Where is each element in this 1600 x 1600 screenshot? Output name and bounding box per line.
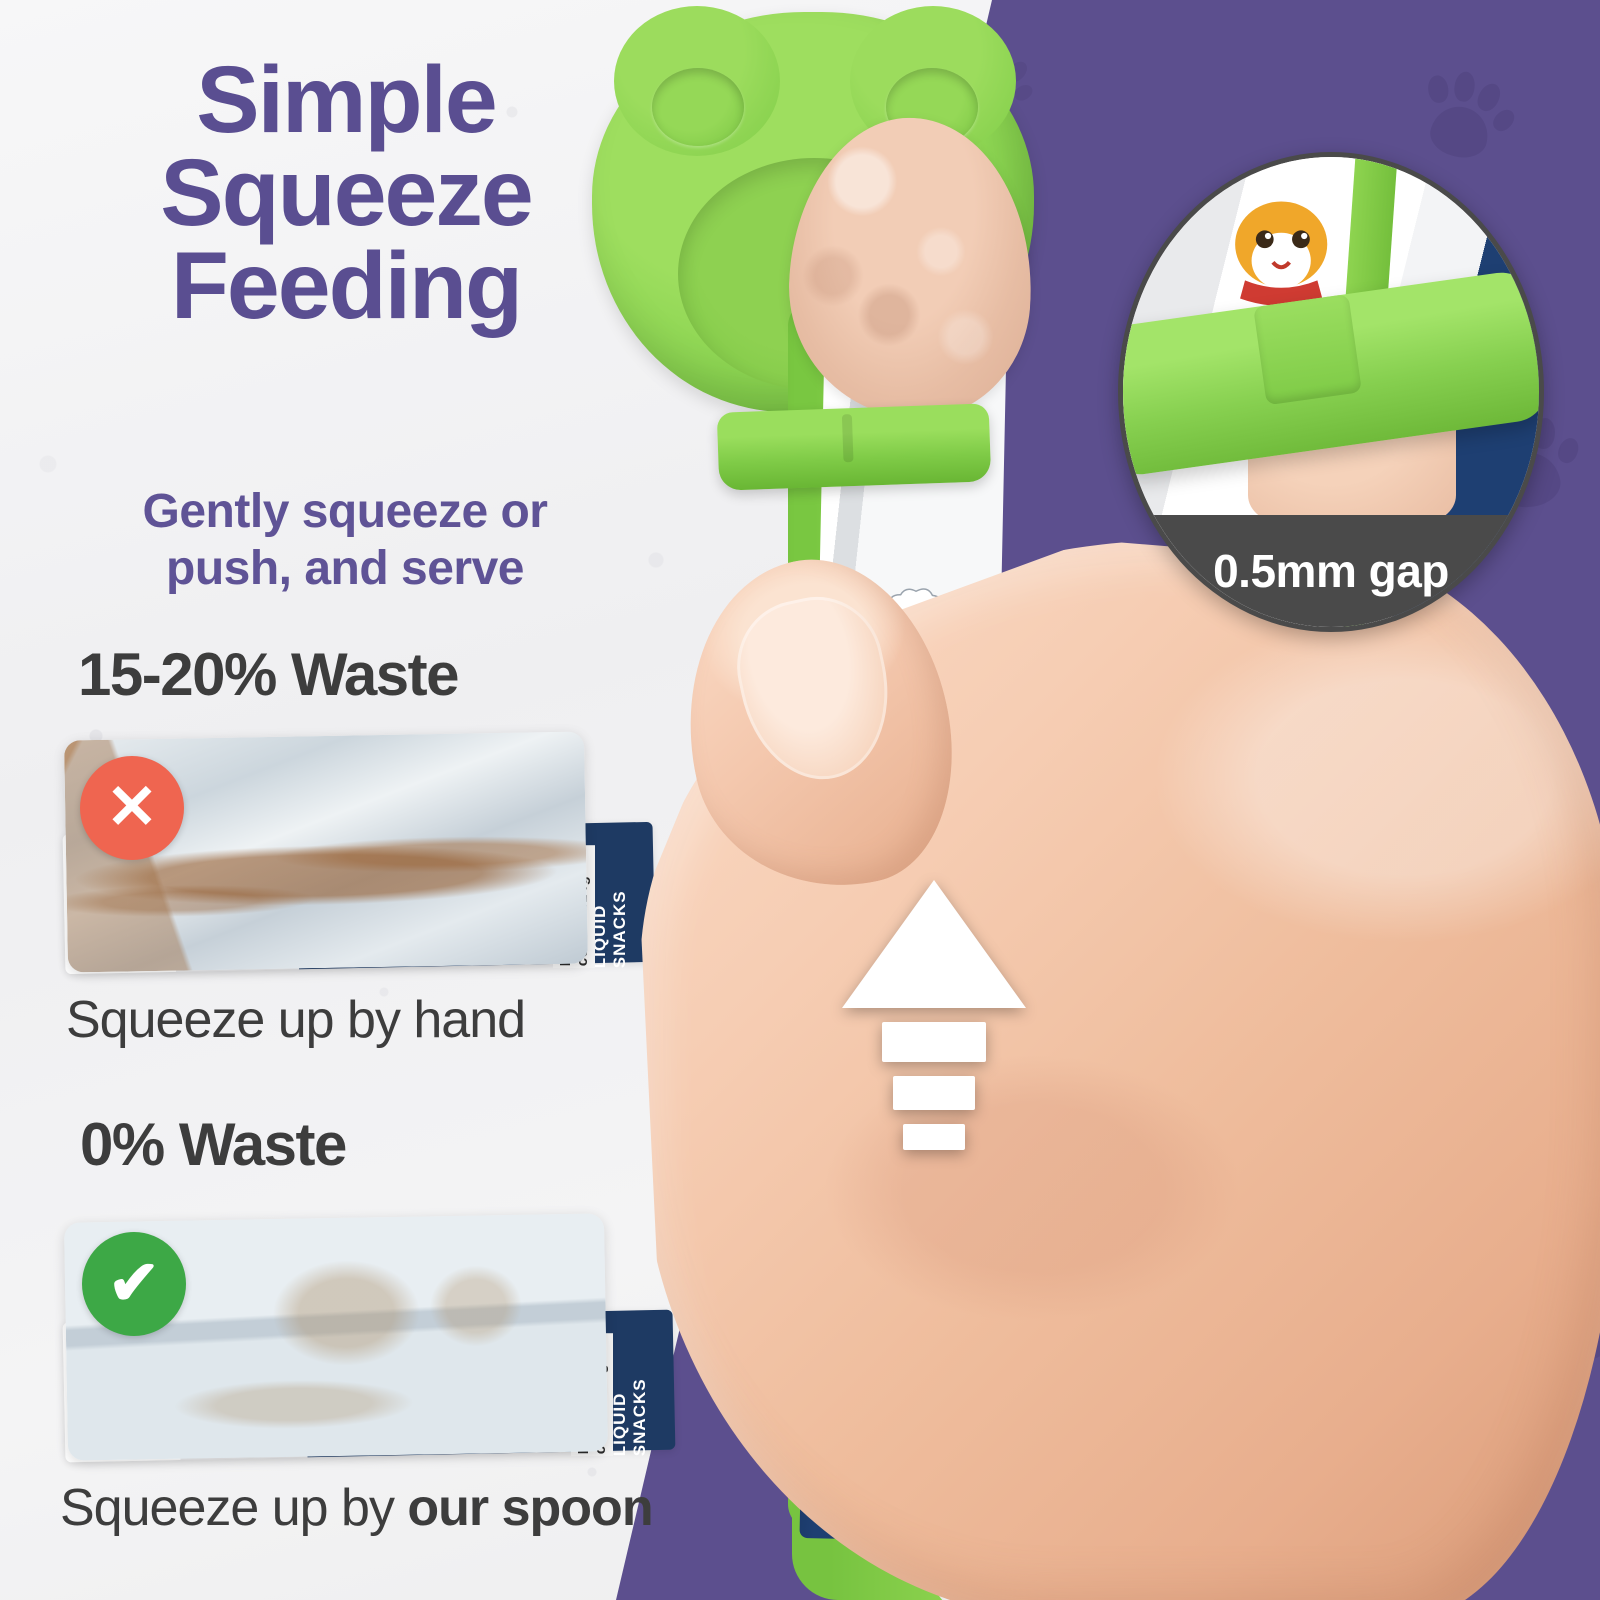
callout-silicone-clip bbox=[1118, 268, 1544, 478]
silicone-clip-upper bbox=[717, 403, 992, 490]
callout-label: 0.5mm gap bbox=[1123, 515, 1539, 627]
frog-eye-left-icon bbox=[652, 68, 744, 146]
arrow-segment bbox=[893, 1076, 975, 1110]
arrow-segment bbox=[903, 1124, 965, 1150]
arrow-head bbox=[842, 880, 1026, 1008]
arrow-segment bbox=[882, 1022, 986, 1062]
arrow-up-icon bbox=[842, 880, 1026, 1150]
product-infographic: Simple Squeeze Feeding Gently squeeze or… bbox=[0, 0, 1600, 1600]
zoom-callout-bubble: 0.5mm gap bbox=[1118, 152, 1544, 632]
